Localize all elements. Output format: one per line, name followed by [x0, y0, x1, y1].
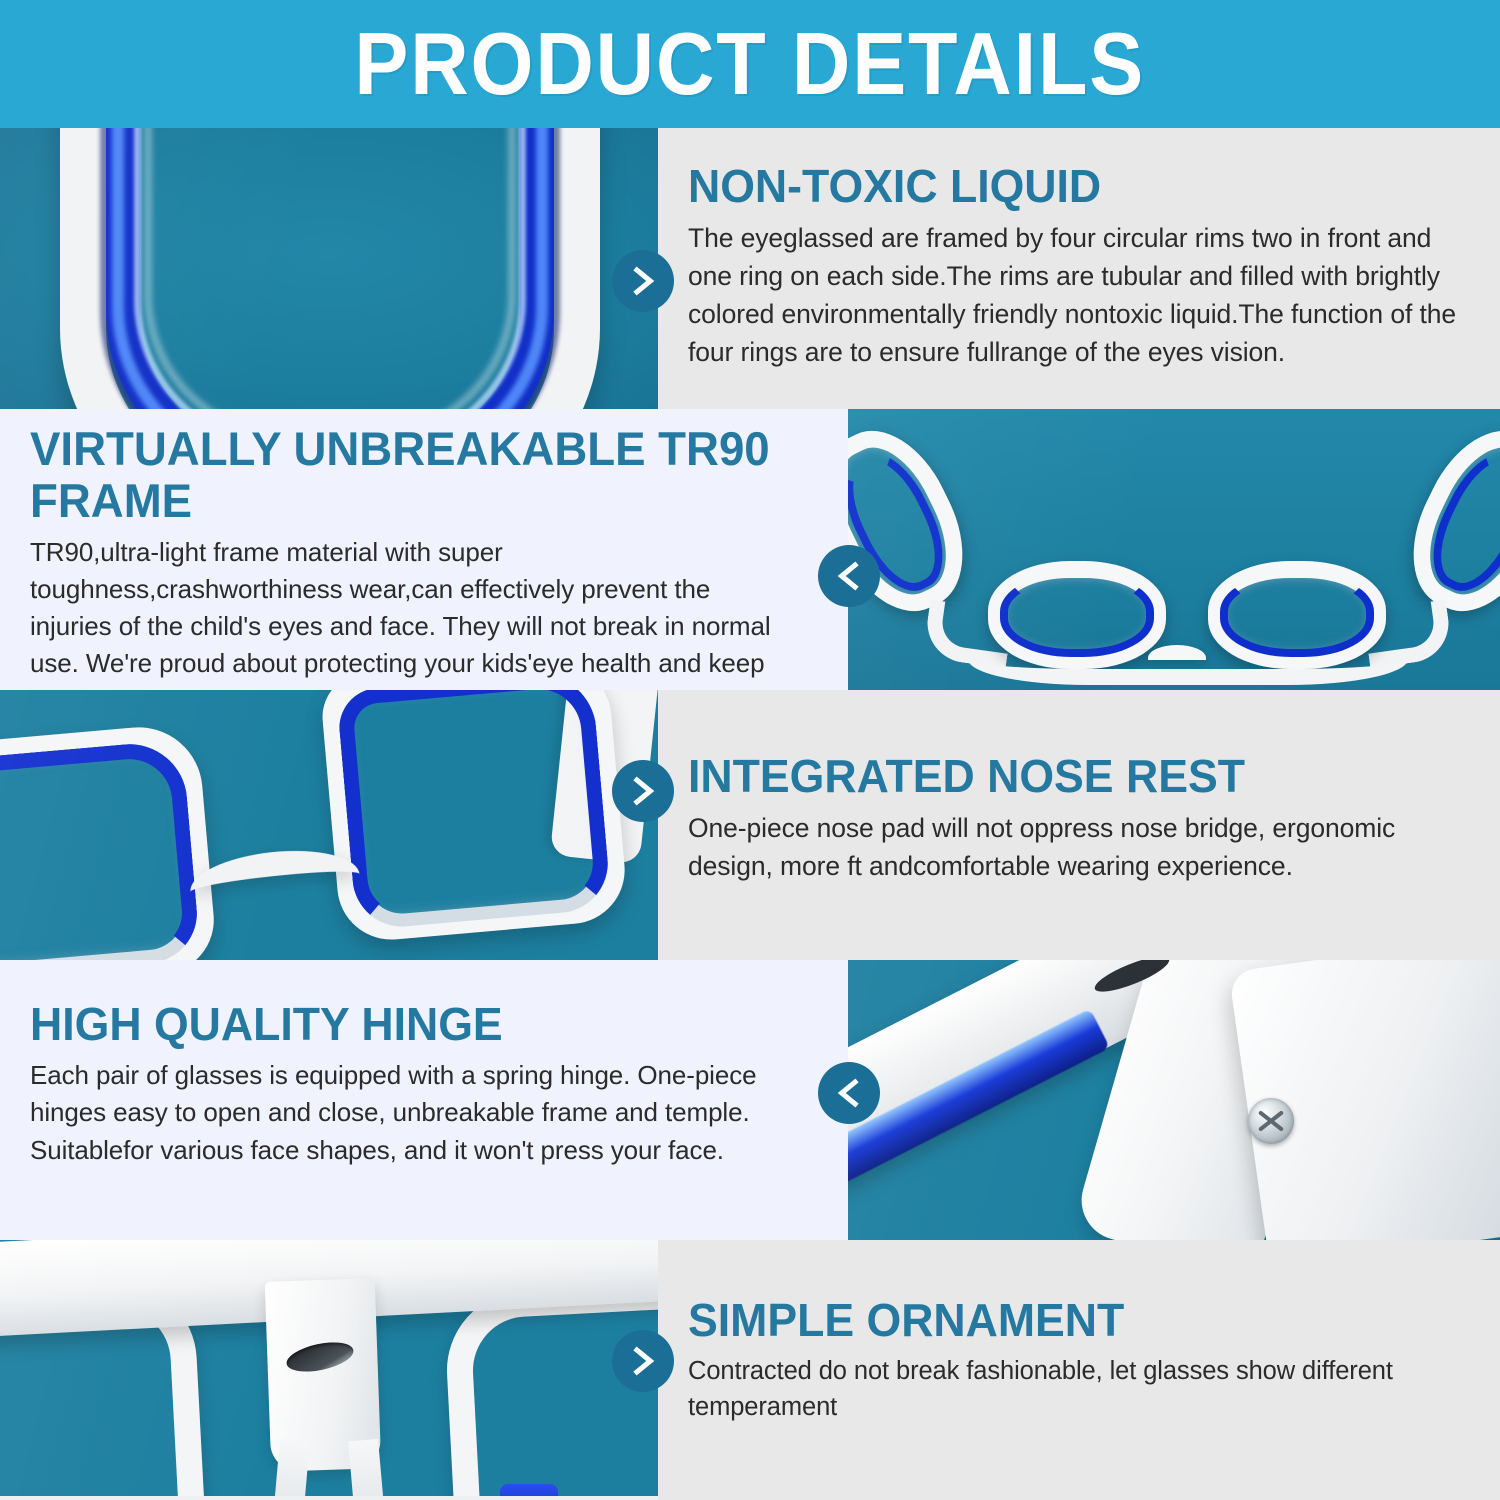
section-body: Each pair of glasses is equipped with a …: [30, 1057, 788, 1169]
section-text-simple-ornament: SIMPLE ORNAMENT Contracted do not break …: [658, 1240, 1500, 1500]
header-banner: PRODUCT DETAILS: [0, 0, 1500, 128]
section-row-integrated-nose-rest: INTEGRATED NOSE REST One-piece nose pad …: [0, 690, 1500, 960]
chevron-right-icon: [612, 250, 674, 312]
product-photo-simple-ornament: [0, 1240, 658, 1500]
section-body: TR90,ultra-light frame material with sup…: [30, 534, 796, 690]
section-heading: HIGH QUALITY HINGE: [30, 1000, 765, 1049]
section-heading: SIMPLE ORNAMENT: [688, 1296, 1450, 1345]
section-row-tr90-frame: VIRTUALLY UNBREAKABLE TR90 FRAME TR90,ul…: [0, 409, 1500, 690]
product-photo-integrated-nose-rest: [0, 690, 658, 960]
section-heading: VIRTUALLY UNBREAKABLE TR90 FRAME: [30, 423, 773, 526]
product-photo-high-quality-hinge: [848, 960, 1500, 1240]
hinge-screw-icon: [1248, 1098, 1294, 1144]
product-photo-non-toxic-liquid: [0, 128, 658, 409]
chevron-right-icon: [612, 1330, 674, 1392]
chevron-left-icon: [818, 1062, 880, 1124]
product-photo-tr90-frame: [848, 409, 1500, 690]
chevron-left-icon: [818, 545, 880, 607]
section-heading: NON-TOXIC LIQUID: [688, 162, 1450, 211]
product-details-infographic: PRODUCT DETAILS NON-TOXIC LIQUID The eye…: [0, 0, 1500, 1500]
section-text-non-toxic-liquid: NON-TOXIC LIQUID The eyeglassed are fram…: [658, 128, 1500, 409]
chevron-right-icon: [612, 760, 674, 822]
section-body: One-piece nose pad will not oppress nose…: [688, 809, 1474, 885]
section-row-high-quality-hinge: HIGH QUALITY HINGE Each pair of glasses …: [0, 960, 1500, 1240]
page-title: PRODUCT DETAILS: [355, 20, 1146, 108]
section-text-integrated-nose-rest: INTEGRATED NOSE REST One-piece nose pad …: [658, 690, 1500, 960]
section-text-high-quality-hinge: HIGH QUALITY HINGE Each pair of glasses …: [0, 960, 848, 1240]
section-body: The eyeglassed are framed by four circul…: [688, 219, 1474, 372]
section-body: Contracted do not break fashionable, let…: [688, 1353, 1474, 1425]
section-row-non-toxic-liquid: NON-TOXIC LIQUID The eyeglassed are fram…: [0, 128, 1500, 409]
section-heading: INTEGRATED NOSE REST: [688, 752, 1450, 801]
section-row-simple-ornament: SIMPLE ORNAMENT Contracted do not break …: [0, 1240, 1500, 1500]
section-text-tr90-frame: VIRTUALLY UNBREAKABLE TR90 FRAME TR90,ul…: [0, 409, 848, 690]
